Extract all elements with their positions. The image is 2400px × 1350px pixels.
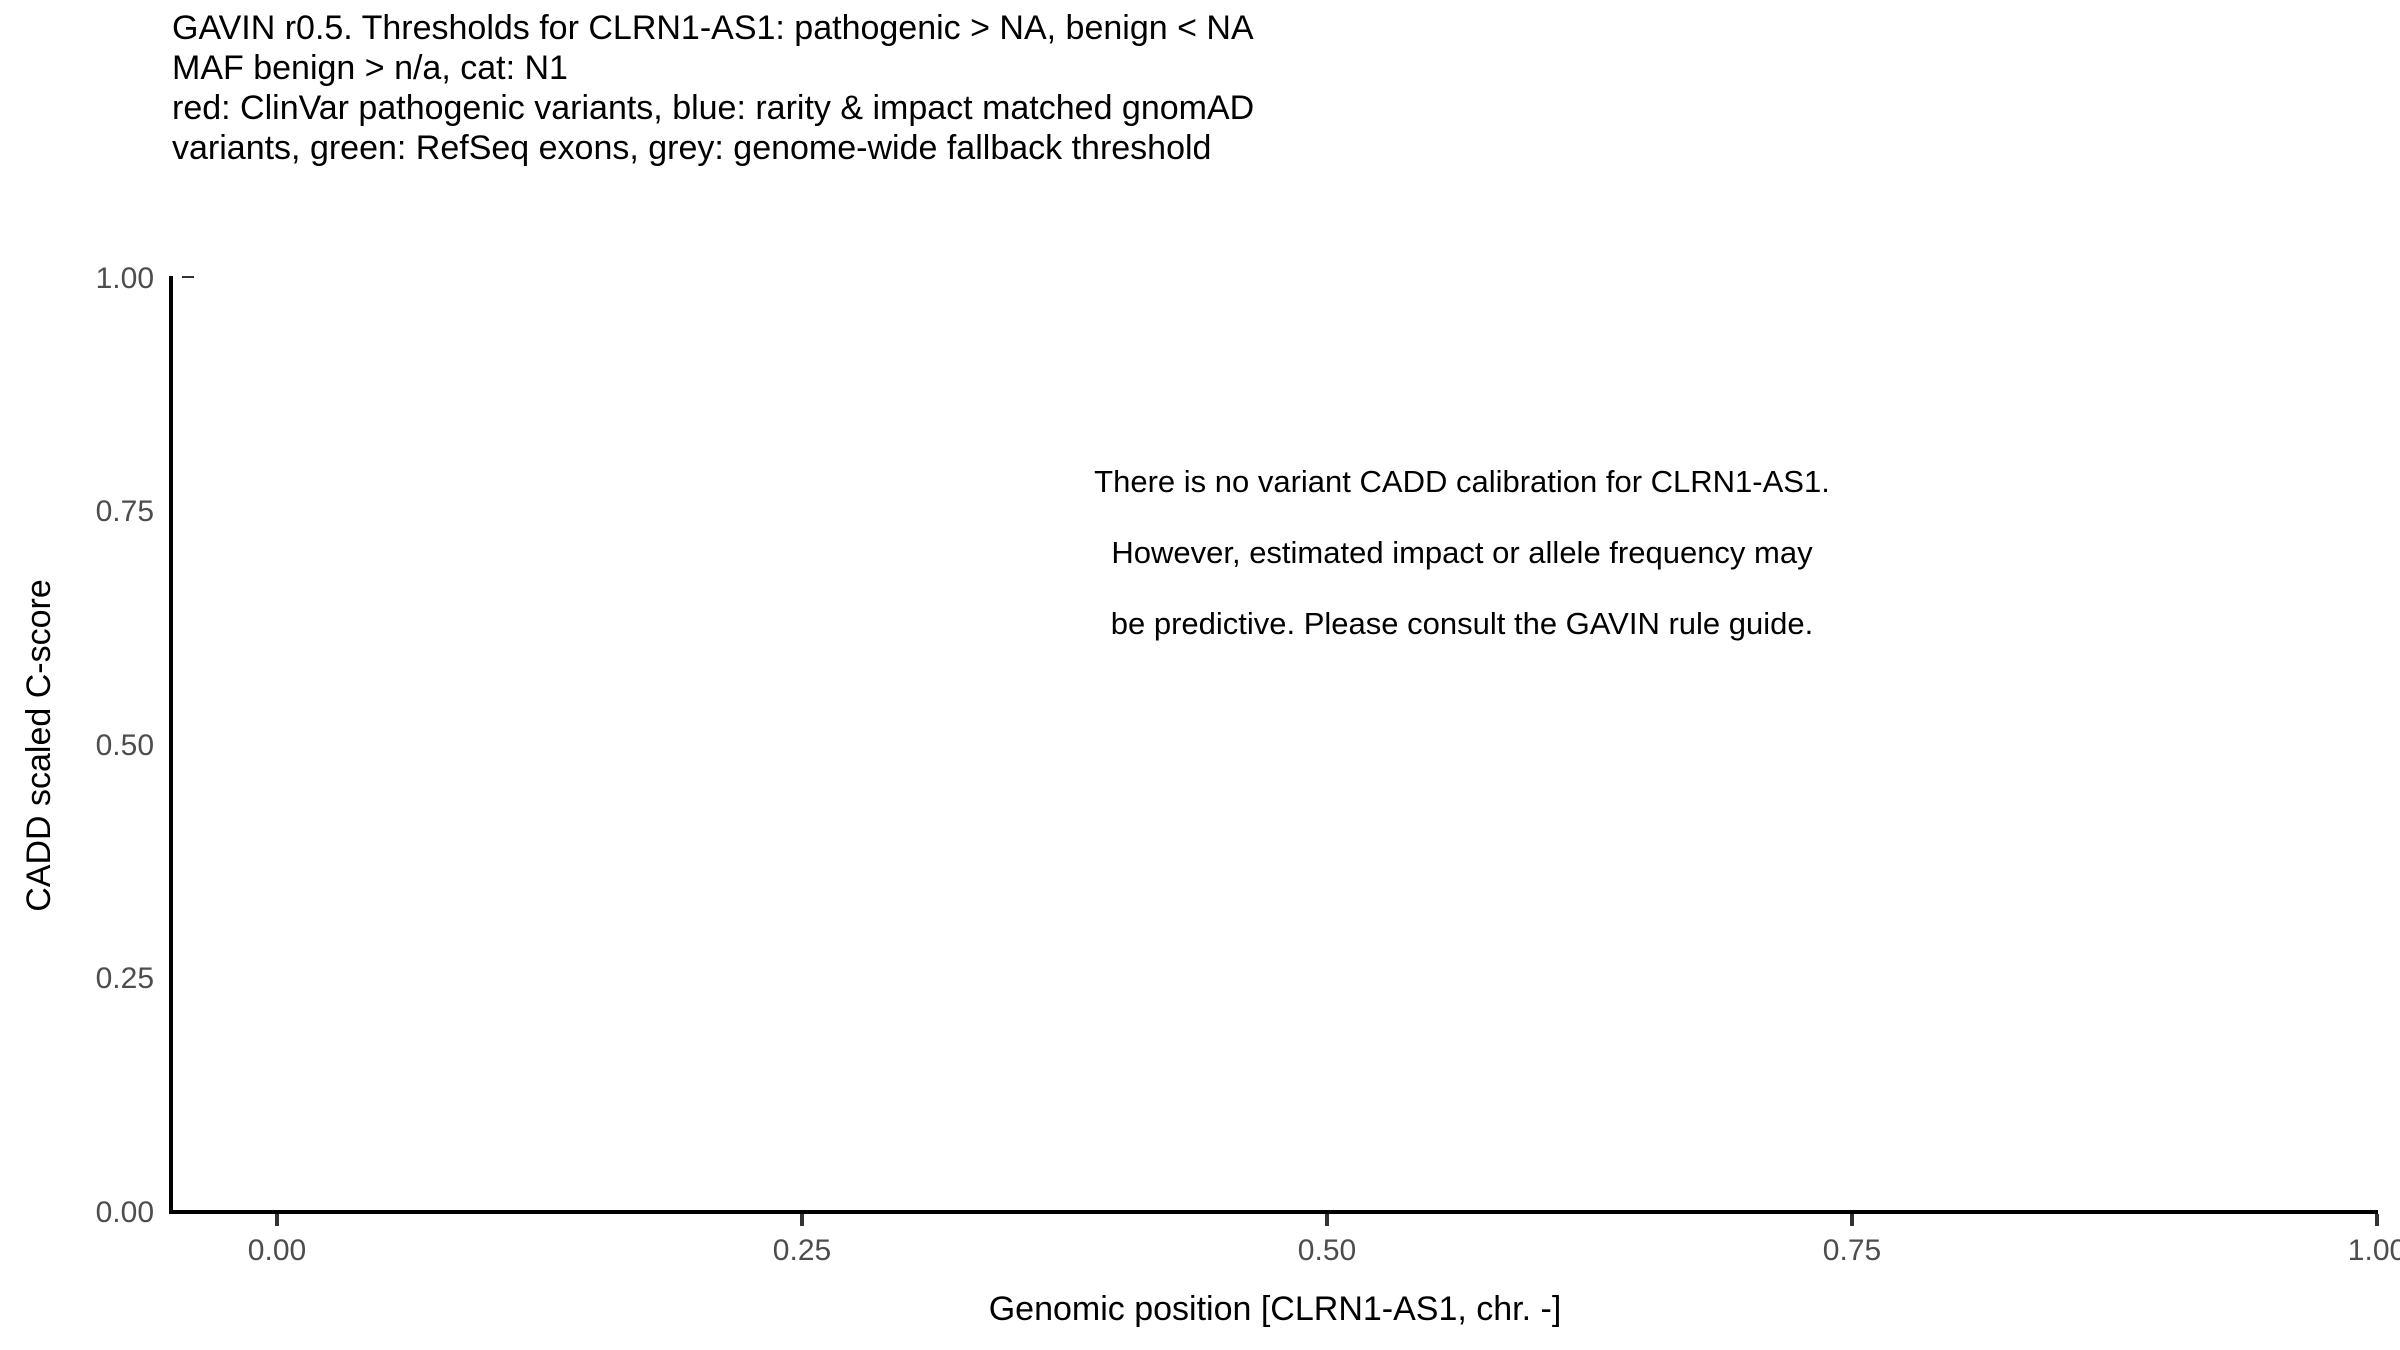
y-tick-label-0.50: 0.50 xyxy=(0,729,154,763)
x-tick-mark-0.75 xyxy=(1850,1214,1854,1226)
y-tick-label-0.00: 0.00 xyxy=(0,1196,154,1230)
x-tick-label-0.50: 0.50 xyxy=(1217,1234,1437,1268)
panel-annotation-line-1: There is no variant CADD calibration for… xyxy=(602,446,2322,517)
x-tick-mark-0.50 xyxy=(1325,1214,1329,1226)
x-tick-label-0.25: 0.25 xyxy=(692,1234,912,1268)
x-tick-label-1.00: 1.00 xyxy=(2267,1234,2400,1268)
x-tick-label-0.00: 0.00 xyxy=(167,1234,387,1268)
plot-title-line-3: red: ClinVar pathogenic variants, blue: … xyxy=(172,88,2272,128)
x-tick-mark-0.25 xyxy=(800,1214,804,1226)
plot-title-line-1: GAVIN r0.5. Thresholds for CLRN1-AS1: pa… xyxy=(172,8,2272,48)
x-tick-label-0.75: 0.75 xyxy=(1742,1234,1962,1268)
plot-canvas: GAVIN r0.5. Thresholds for CLRN1-AS1: pa… xyxy=(0,0,2400,1350)
y-tick-label-0.75: 0.75 xyxy=(0,495,154,529)
panel-annotation: There is no variant CADD calibration for… xyxy=(602,446,2322,659)
plot-panel: There is no variant CADD calibration for… xyxy=(172,278,2378,1212)
x-axis-title: Genomic position [CLRN1-AS1, chr. -] xyxy=(172,1290,2378,1329)
x-tick-mark-0.00 xyxy=(275,1214,279,1226)
plot-title-line-2: MAF benign > n/a, cat: N1 xyxy=(172,48,2272,88)
y-tick-label-0.25: 0.25 xyxy=(0,962,154,996)
y-tick-label-1.00: 1.00 xyxy=(0,262,154,296)
plot-title-line-4: variants, green: RefSeq exons, grey: gen… xyxy=(172,128,2272,168)
plot-title: GAVIN r0.5. Thresholds for CLRN1-AS1: pa… xyxy=(172,8,2272,168)
x-tick-mark-1.00 xyxy=(2375,1214,2379,1226)
panel-annotation-line-3: be predictive. Please consult the GAVIN … xyxy=(602,588,2322,659)
panel-annotation-line-2: However, estimated impact or allele freq… xyxy=(602,517,2322,588)
